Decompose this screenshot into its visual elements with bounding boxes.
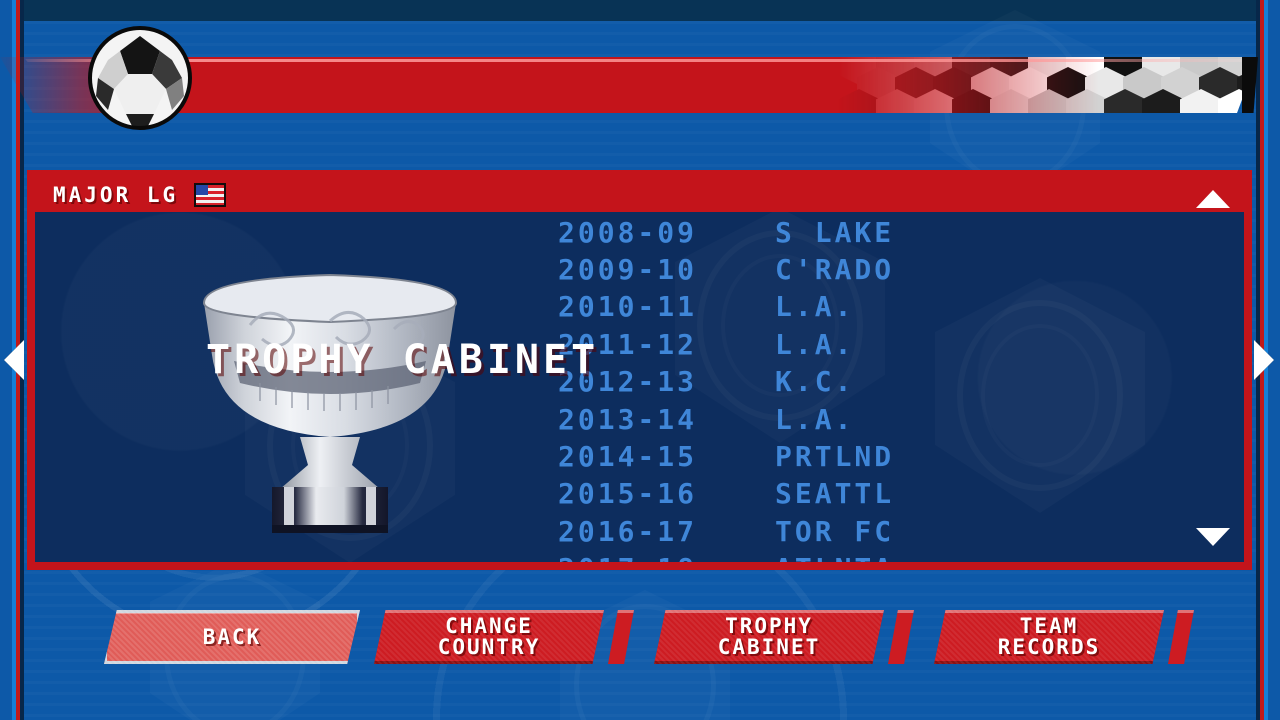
team-label: ATLNTA — [775, 552, 894, 562]
change-country-button[interactable]: CHANGE COUNTRY — [374, 610, 604, 664]
button-sliver — [1168, 610, 1194, 664]
button-sliver — [888, 610, 914, 664]
footer-button-bar: BACK CHANGE COUNTRY TROPHY CABINET TEAM … — [0, 606, 1280, 668]
season-label: 2009-10 — [558, 253, 697, 286]
back-button-label: BACK — [203, 627, 262, 648]
season-label: 2013-14 — [558, 403, 697, 436]
list-item[interactable]: 2017-18ATLNTA — [35, 550, 1244, 562]
season-label: 2010-11 — [558, 290, 697, 323]
league-tab[interactable]: MAJOR LG — [35, 178, 1244, 212]
triangle-up-icon — [1196, 190, 1230, 208]
scroll-up-button[interactable] — [1196, 190, 1230, 212]
team-label: TOR FC — [775, 515, 894, 548]
league-tab-label: MAJOR LG — [53, 183, 178, 207]
season-label: 2008-09 — [558, 216, 697, 249]
change-country-button-label: CHANGE COUNTRY — [438, 616, 541, 658]
team-label: PRTLND — [775, 440, 894, 473]
header-ball-pattern — [838, 57, 1258, 113]
team-label: S LAKE — [775, 216, 894, 249]
back-button[interactable]: BACK — [104, 610, 360, 664]
season-label: 2017-18 — [558, 552, 697, 562]
season-label: 2016-17 — [558, 515, 697, 548]
nav-previous-button[interactable] — [4, 340, 26, 380]
season-label: 2015-16 — [558, 477, 697, 510]
scroll-down-button[interactable] — [1196, 528, 1230, 550]
us-flag-icon — [194, 183, 226, 207]
trophy-cup-icon — [180, 233, 480, 533]
season-label: 2014-15 — [558, 440, 697, 473]
team-label: K.C. — [775, 365, 854, 398]
soccer-ball-icon — [88, 26, 192, 130]
page-title: TROPHY CABINET — [206, 340, 599, 380]
nav-next-button[interactable] — [1254, 340, 1276, 380]
team-records-button[interactable]: TEAM RECORDS — [934, 610, 1164, 664]
team-label: C'RADO — [775, 253, 894, 286]
header-right-cap — [1242, 57, 1258, 113]
chevron-right-icon — [1254, 340, 1274, 380]
team-label: SEATTL — [775, 477, 894, 510]
team-label: L.A. — [775, 290, 854, 323]
team-label: L.A. — [775, 328, 854, 361]
button-sliver — [608, 610, 634, 664]
team-label: L.A. — [775, 403, 854, 436]
chevron-left-icon — [4, 340, 24, 380]
trophy-cabinet-button-label: TROPHY CABINET — [718, 616, 821, 658]
triangle-down-icon — [1196, 528, 1230, 546]
team-records-button-label: TEAM RECORDS — [998, 616, 1101, 658]
trophy-cabinet-button[interactable]: TROPHY CABINET — [654, 610, 884, 664]
